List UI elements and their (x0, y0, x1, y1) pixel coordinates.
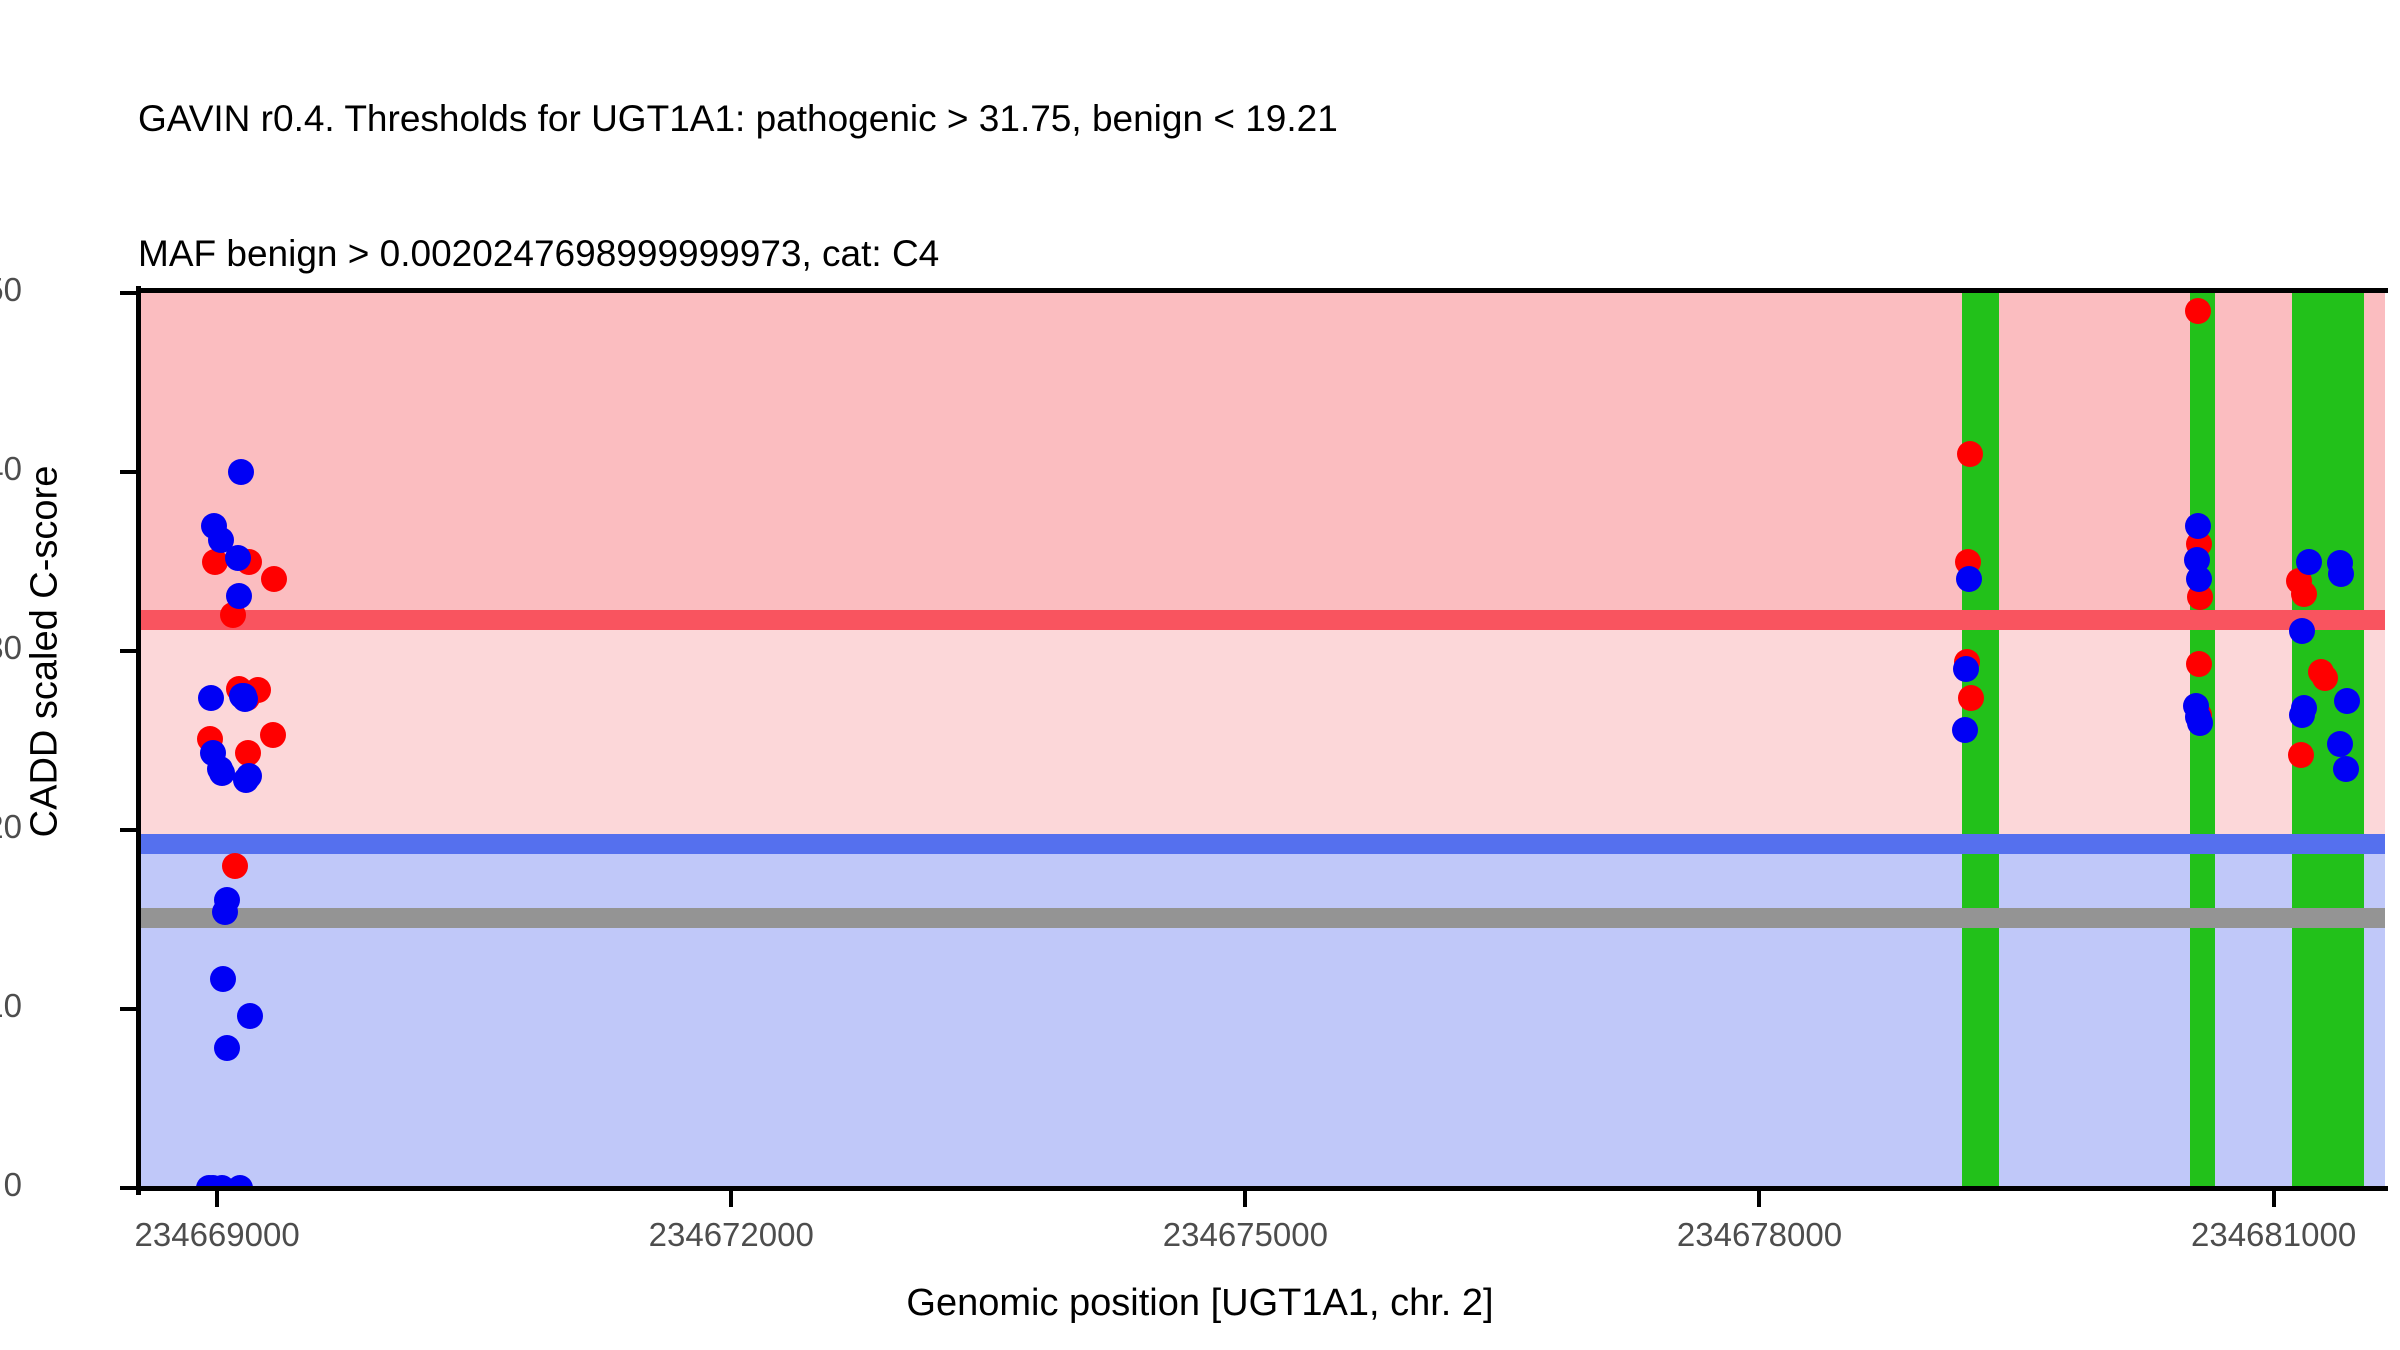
band-pathogenic (140, 293, 2385, 620)
data-point (228, 459, 254, 485)
data-point (260, 722, 286, 748)
data-point (222, 853, 248, 879)
threshold-line-benign (140, 834, 2385, 854)
y-tick-mark (120, 649, 136, 653)
data-point (210, 966, 236, 992)
data-point (2296, 549, 2322, 575)
data-point (1958, 685, 1984, 711)
x-tick-mark (729, 1191, 733, 1207)
data-point (2288, 742, 2314, 768)
y-tick-label: 0 (4, 1166, 22, 1204)
data-point (2185, 513, 2211, 539)
y-tick-label: 20 (0, 808, 22, 846)
data-point (1952, 717, 1978, 743)
data-point (236, 763, 262, 789)
x-axis-label: Genomic position [UGT1A1, chr. 2] (0, 1282, 2400, 1325)
data-point (2185, 298, 2211, 324)
data-point (209, 760, 235, 786)
y-tick-mark (120, 470, 136, 474)
data-point (237, 1003, 263, 1029)
y-axis-label: CADD scaled C-score (24, 202, 67, 1102)
y-tick-label: 40 (0, 450, 22, 488)
chart-canvas: GAVIN r0.4. Thresholds for UGT1A1: patho… (0, 0, 2400, 1350)
x-tick-mark (2272, 1191, 2276, 1207)
data-point (2186, 566, 2212, 592)
data-point (2289, 618, 2315, 644)
y-tick-mark (120, 1007, 136, 1011)
data-point (229, 683, 255, 709)
title-line-2: MAF benign > 0.0020247698999999973, cat:… (138, 231, 2238, 276)
data-point (214, 887, 240, 913)
data-point (1956, 566, 1982, 592)
y-tick-mark (120, 291, 136, 295)
x-tick-label: 234678000 (1677, 1216, 1842, 1254)
band-benign (140, 844, 2385, 1188)
data-point (2327, 731, 2353, 757)
y-tick-mark (120, 1186, 136, 1190)
axis-left-line (136, 286, 141, 1195)
axis-top-line (140, 288, 2388, 293)
x-tick-label: 234672000 (649, 1216, 814, 1254)
data-point (1953, 656, 1979, 682)
x-tick-mark (1757, 1191, 1761, 1207)
y-tick-mark (120, 828, 136, 832)
data-point (198, 685, 224, 711)
x-tick-label: 234675000 (1163, 1216, 1328, 1254)
title-line-1: GAVIN r0.4. Thresholds for UGT1A1: patho… (138, 96, 2238, 141)
x-tick-mark (1243, 1191, 1247, 1207)
y-tick-label: 10 (0, 987, 22, 1025)
y-tick-label: 50 (0, 271, 22, 309)
data-point (235, 740, 261, 766)
exon-bar (2190, 293, 2216, 1188)
data-point (2186, 651, 2212, 677)
threshold-line-pathogenic (140, 610, 2385, 630)
data-point (2291, 581, 2317, 607)
data-point (2312, 665, 2338, 691)
axis-bottom-line (136, 1186, 2388, 1191)
data-point (225, 545, 251, 571)
x-tick-label: 234669000 (135, 1216, 300, 1254)
data-point (2187, 710, 2213, 736)
x-tick-label: 234681000 (2191, 1216, 2356, 1254)
data-point (261, 566, 287, 592)
threshold-line-genome-wide-fallback (140, 908, 2385, 928)
data-point (226, 583, 252, 609)
band-vus (140, 620, 2385, 844)
plot-area (140, 293, 2385, 1188)
x-tick-mark (215, 1191, 219, 1207)
y-tick-label: 30 (0, 629, 22, 667)
